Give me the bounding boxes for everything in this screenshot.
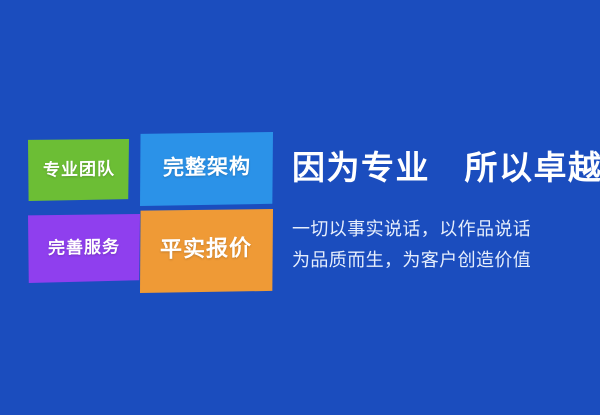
feature-tile-service[interactable]: 完善服务 <box>28 214 140 283</box>
feature-tile-architecture-label: 完整架构 <box>163 156 251 179</box>
feature-tile-team[interactable]: 专业团队 <box>28 139 129 201</box>
banner-headline: 因为专业 所以卓越 <box>292 150 588 187</box>
banner-subcopy-line-2: 为品质而生，为客户创造价值 <box>292 245 588 276</box>
banner-subcopy: 一切以事实说话，以作品说话 为品质而生，为客户创造价值 <box>292 214 588 276</box>
feature-tile-architecture[interactable]: 完整架构 <box>140 132 273 206</box>
feature-tile-price-label: 平实报价 <box>160 237 252 261</box>
feature-tile-price[interactable]: 平实报价 <box>140 209 273 293</box>
banner-subcopy-line-1: 一切以事实说话，以作品说话 <box>292 214 588 245</box>
banner-copy-block: 因为专业 所以卓越 一切以事实说话，以作品说话 为品质而生，为客户创造价值 <box>292 150 588 276</box>
feature-tile-service-label: 完善服务 <box>48 238 120 256</box>
promo-banner: 专业团队 完整架构 完善服务 平实报价 因为专业 所以卓越 一切以事实说话，以作… <box>0 0 600 415</box>
feature-tile-team-label: 专业团队 <box>43 160 115 178</box>
